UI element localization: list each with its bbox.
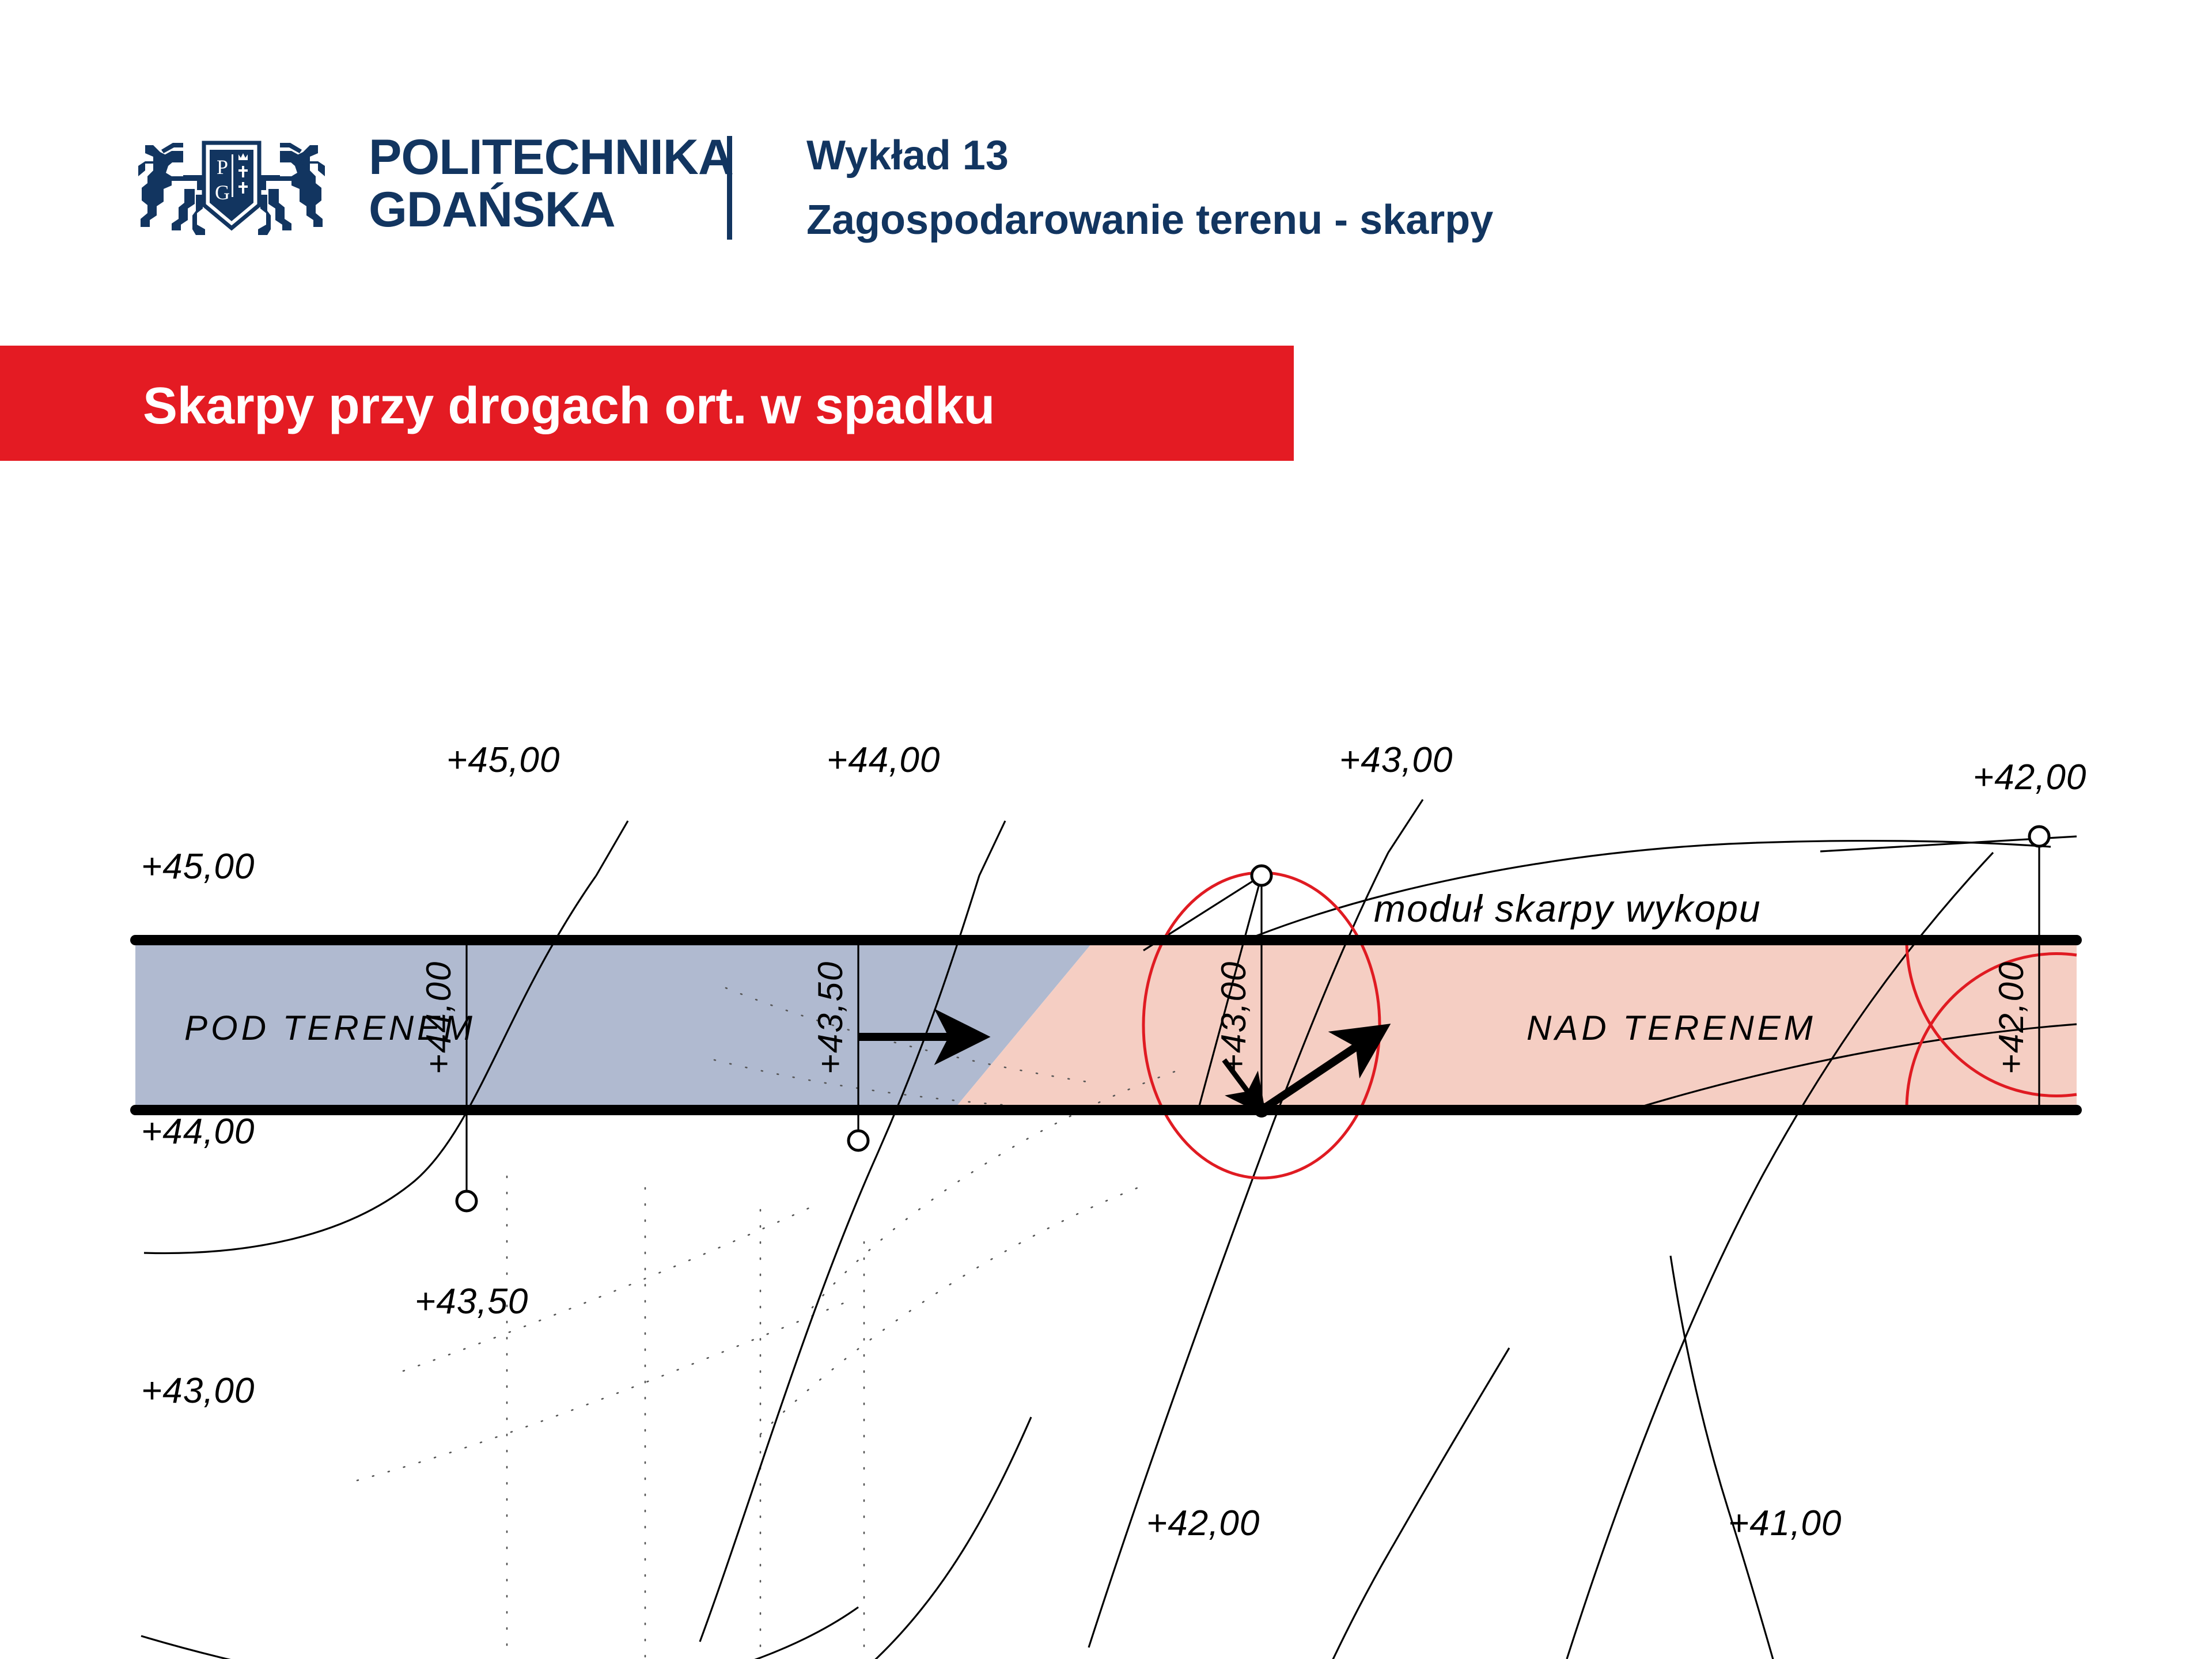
lecture-number: Wykład 13 <box>806 134 1493 179</box>
header-divider <box>727 136 732 240</box>
university-name-line1: POLITECHNIKA <box>369 131 733 184</box>
pg-crest-icon: P G <box>128 126 335 252</box>
lecture-heading: Wykład 13 Zagospodarowanie terenu - skar… <box>806 134 1493 243</box>
contour-label-left-1: +44,00 <box>141 1112 255 1152</box>
university-name: POLITECHNIKA GDAŃSKA <box>369 131 733 236</box>
svg-text:P: P <box>217 156 228 179</box>
contour-label-left-3: +43,00 <box>141 1371 255 1411</box>
contour-label-top-0: +45,00 <box>446 740 560 780</box>
slope-diagram: +45,00 +44,00 +43,00 +42,00 +45,00 +44,0… <box>0 507 2212 1659</box>
section-title-text: Skarpy przy drogach ort. w spadku <box>143 377 995 436</box>
node-point-42 <box>2029 827 2049 846</box>
pg-logo: P G <box>128 126 335 252</box>
band-tick-label-1: +43,50 <box>811 961 850 1074</box>
module-annotation-label: moduł skarpy wykopu <box>1374 887 1762 930</box>
band-tick-label-2: +43,00 <box>1214 961 1253 1074</box>
contour-label-left-2: +43,50 <box>415 1282 528 1321</box>
band-tick-label-0: +44,00 <box>419 961 458 1074</box>
contour-label-top-3: +42,00 <box>1973 757 2086 797</box>
node-point-43-5 <box>849 1131 868 1150</box>
contour-label-left-0: +45,00 <box>141 847 255 887</box>
contour-label-bottom-1: +41,00 <box>1728 1503 1842 1543</box>
university-name-line2: GDAŃSKA <box>369 184 733 236</box>
node-point-44 <box>457 1191 476 1211</box>
region-label-nad-terenem: NAD TERENEM <box>1527 1009 1816 1047</box>
lecture-title: Zagospodarowanie terenu - skarpy <box>806 198 1493 243</box>
node-point-43 <box>1252 866 1271 885</box>
slide-header: P G POLITECHNIKA GDAŃSKA Wykład 13 Zagos… <box>0 0 2212 300</box>
contour-label-bottom-0: +42,00 <box>1146 1503 1260 1543</box>
module-origin-dot <box>1254 1103 1269 1118</box>
band-tick-label-3: +42,00 <box>1992 961 2031 1074</box>
svg-text:G: G <box>215 181 230 204</box>
contour-label-top-2: +43,00 <box>1339 740 1453 780</box>
contour-label-top-1: +44,00 <box>827 740 940 780</box>
